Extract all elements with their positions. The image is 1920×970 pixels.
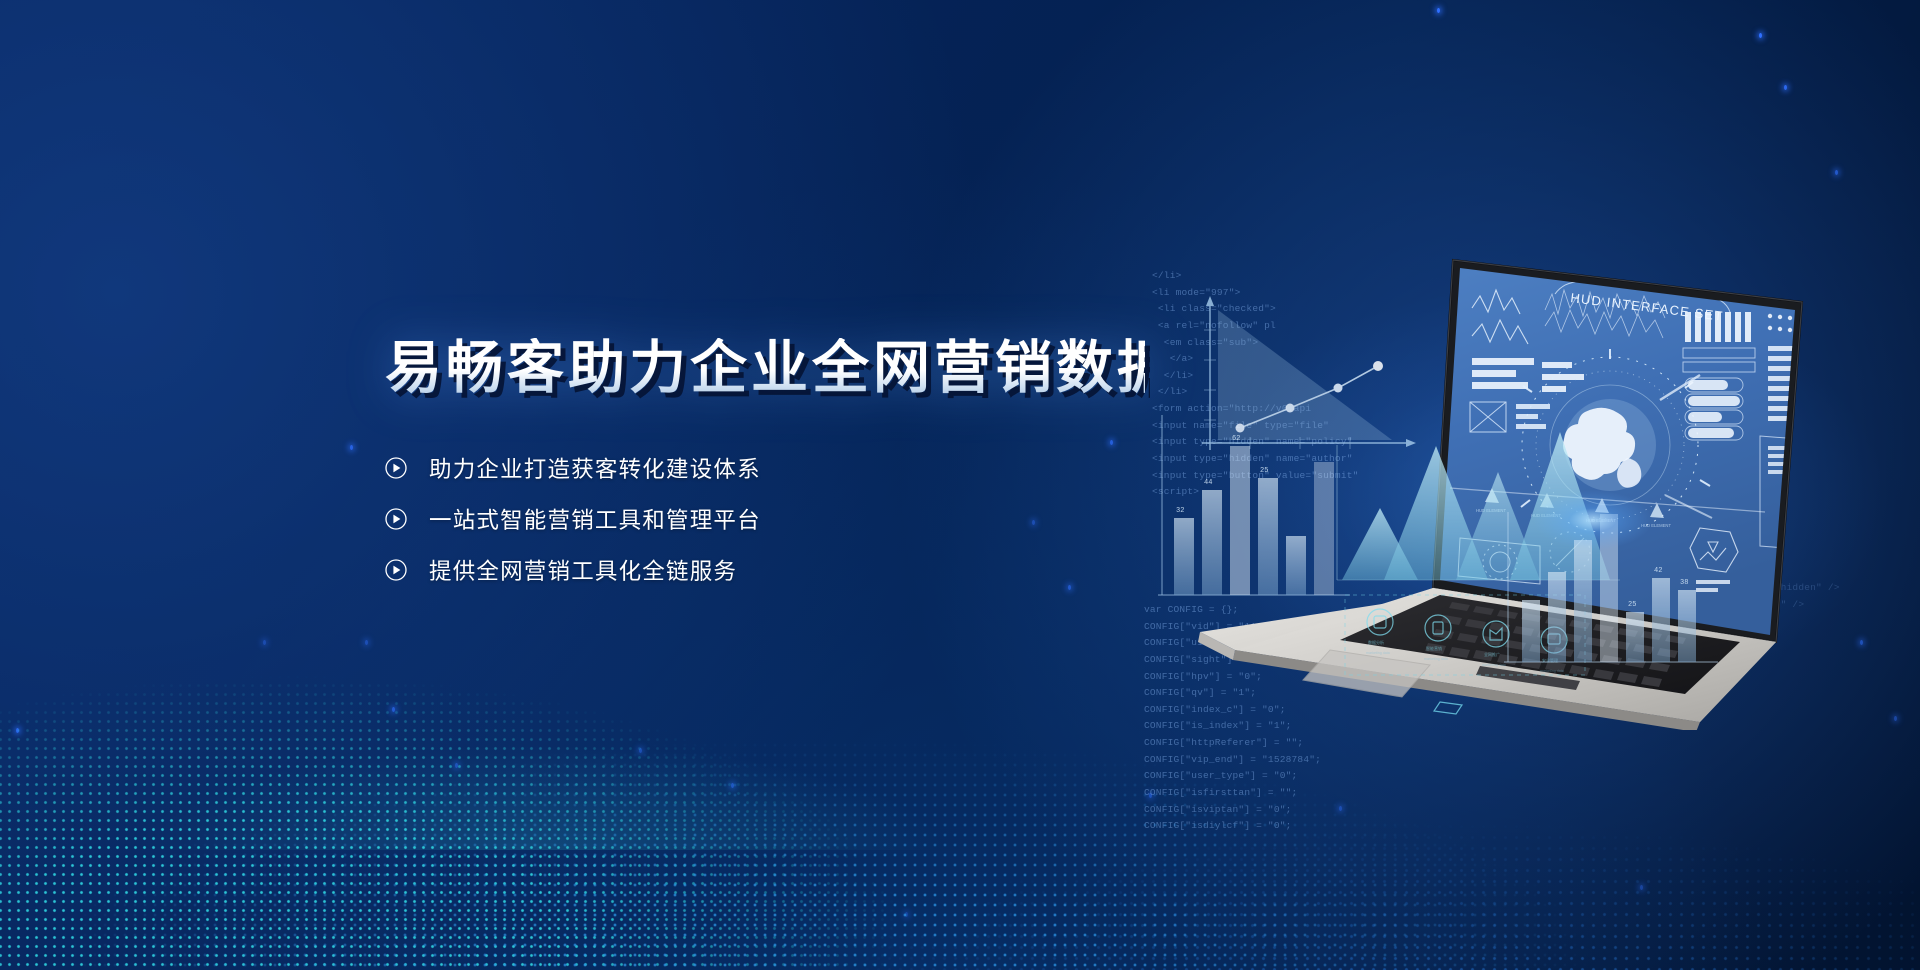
- svg-text:marketing data: marketing data: [1482, 663, 1506, 667]
- laptop-artwork: 32 44 25 62 HUD INTERFACE SET: [1140, 250, 1920, 730]
- page-title: 易畅客助力企业全网营销数据化: [385, 338, 1145, 400]
- feature-label: 助力企业打造获客转化建设体系: [429, 452, 761, 484]
- svg-text:数据分析: 数据分析: [1368, 639, 1384, 645]
- svg-text:HUD ELEMENT: HUD ELEMENT: [1641, 523, 1671, 528]
- bottom-right-bar-chart: 25 42 38: [1504, 512, 1718, 662]
- left-bar-chart: 32 44 25 62: [1158, 415, 1350, 595]
- svg-text:25: 25: [1628, 601, 1636, 609]
- svg-text:marketing data: marketing data: [1366, 651, 1390, 655]
- svg-text:38: 38: [1680, 579, 1688, 587]
- code-overlay-top-left: </li> <li mode="997"> <li class="checked…: [1152, 268, 1359, 501]
- hud-interface: HUD INTERFACE SET: [1450, 282, 1812, 592]
- svg-text:marketing data: marketing data: [1540, 669, 1564, 673]
- svg-text:44: 44: [1204, 479, 1212, 487]
- list-item: 一站式智能营销工具和管理平台: [385, 493, 1145, 545]
- feature-label: 提供全网营销工具化全链服务: [429, 554, 737, 586]
- list-item: 提供全网营销工具化全链服务: [385, 544, 1145, 596]
- code-overlay-right-upper: <meta ht tf value="longitude" /> <meta "…: [1595, 390, 1784, 423]
- svg-text:安全管理: 安全管理: [1542, 657, 1558, 663]
- code-overlay-right-lower: <input name="value" id="id" type="hidden…: [1580, 580, 1840, 613]
- feature-icon-row: 数据分析 智能营销 全网推广 安全管理 marketing data marke…: [1345, 595, 1585, 675]
- svg-text:42: 42: [1654, 567, 1662, 575]
- svg-text:25: 25: [1260, 467, 1268, 475]
- svg-text:HUD ELEMENT: HUD ELEMENT: [1586, 518, 1616, 523]
- code-overlay-bottom-left: var CONFIG = {}; CONFIG["vid"] = "1141";…: [1144, 602, 1321, 835]
- play-circle-icon: [385, 508, 407, 530]
- keyboard-keys: [1425, 602, 1686, 690]
- triangle-line-chart: [1202, 296, 1416, 450]
- svg-text:marketing data: marketing data: [1424, 657, 1448, 661]
- screen-title-text: HUD INTERFACE SET: [1570, 290, 1725, 324]
- list-item: 助力企业打造获客转化建设体系: [385, 442, 1145, 494]
- hero-illustration: </li> <li mode="997"> <li class="checked…: [1140, 250, 1920, 730]
- svg-text:62: 62: [1232, 435, 1240, 443]
- svg-text:全网推广: 全网推广: [1484, 651, 1500, 657]
- wave-layer-back: [0, 700, 1920, 970]
- svg-text:HUD ELEMENT: HUD ELEMENT: [1476, 508, 1506, 513]
- laptop-glow: [1260, 290, 1880, 710]
- play-circle-icon: [385, 457, 407, 479]
- mountain-area-chart: [1337, 432, 1620, 580]
- feature-label: 一站式智能营销工具和管理平台: [429, 503, 761, 535]
- feature-list: 助力企业打造获客转化建设体系 一站式智能营销工具和管理平台: [385, 442, 1145, 596]
- svg-text:HUD ELEMENT: HUD ELEMENT: [1531, 513, 1561, 518]
- play-circle-icon: [385, 559, 407, 581]
- laptop-device: HUD INTERFACE SET: [1198, 260, 1812, 730]
- hero-banner: 易畅客助力企业全网营销数据化 助力企业打造获客转化建设体系: [0, 0, 1920, 970]
- globe-dial: [1521, 349, 1712, 533]
- hero-copy: 易畅客助力企业全网营销数据化 助力企业打造获客转化建设体系: [385, 338, 1145, 596]
- lens-flare: [1533, 490, 1653, 550]
- svg-text:32: 32: [1176, 507, 1184, 515]
- svg-text:智能营销: 智能营销: [1426, 645, 1442, 651]
